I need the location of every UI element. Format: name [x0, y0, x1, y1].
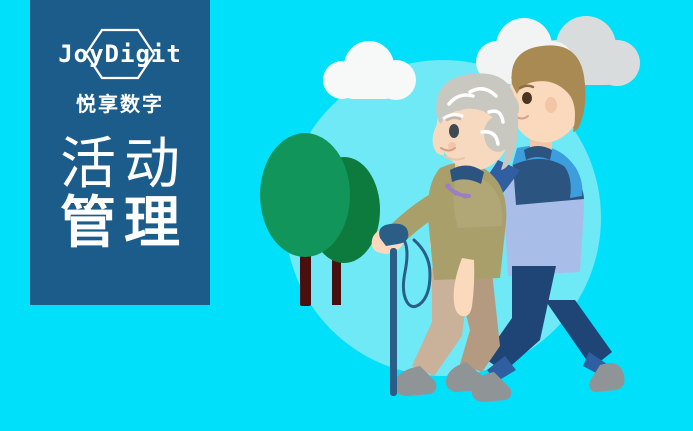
page-title-line-2: 管理: [52, 194, 188, 253]
young-man-torso: [504, 146, 584, 276]
young-man-eye: [522, 92, 532, 104]
elderly-woman-eye: [449, 124, 459, 138]
brand-title-panel: JoyDigit 悦享数字 活动 管理: [30, 0, 210, 305]
logo-subtitle: 悦享数字: [76, 88, 164, 117]
logo-hexagon-icon: JoyDigit: [50, 26, 190, 82]
poster-canvas: JoyDigit 悦享数字 活动 管理: [0, 0, 693, 431]
page-title-line-1: 活动: [52, 135, 188, 194]
logo-wordmark: JoyDigit: [58, 42, 182, 66]
page-title: 活动 管理: [52, 135, 188, 254]
logo-block: JoyDigit 悦享数字: [50, 26, 190, 117]
